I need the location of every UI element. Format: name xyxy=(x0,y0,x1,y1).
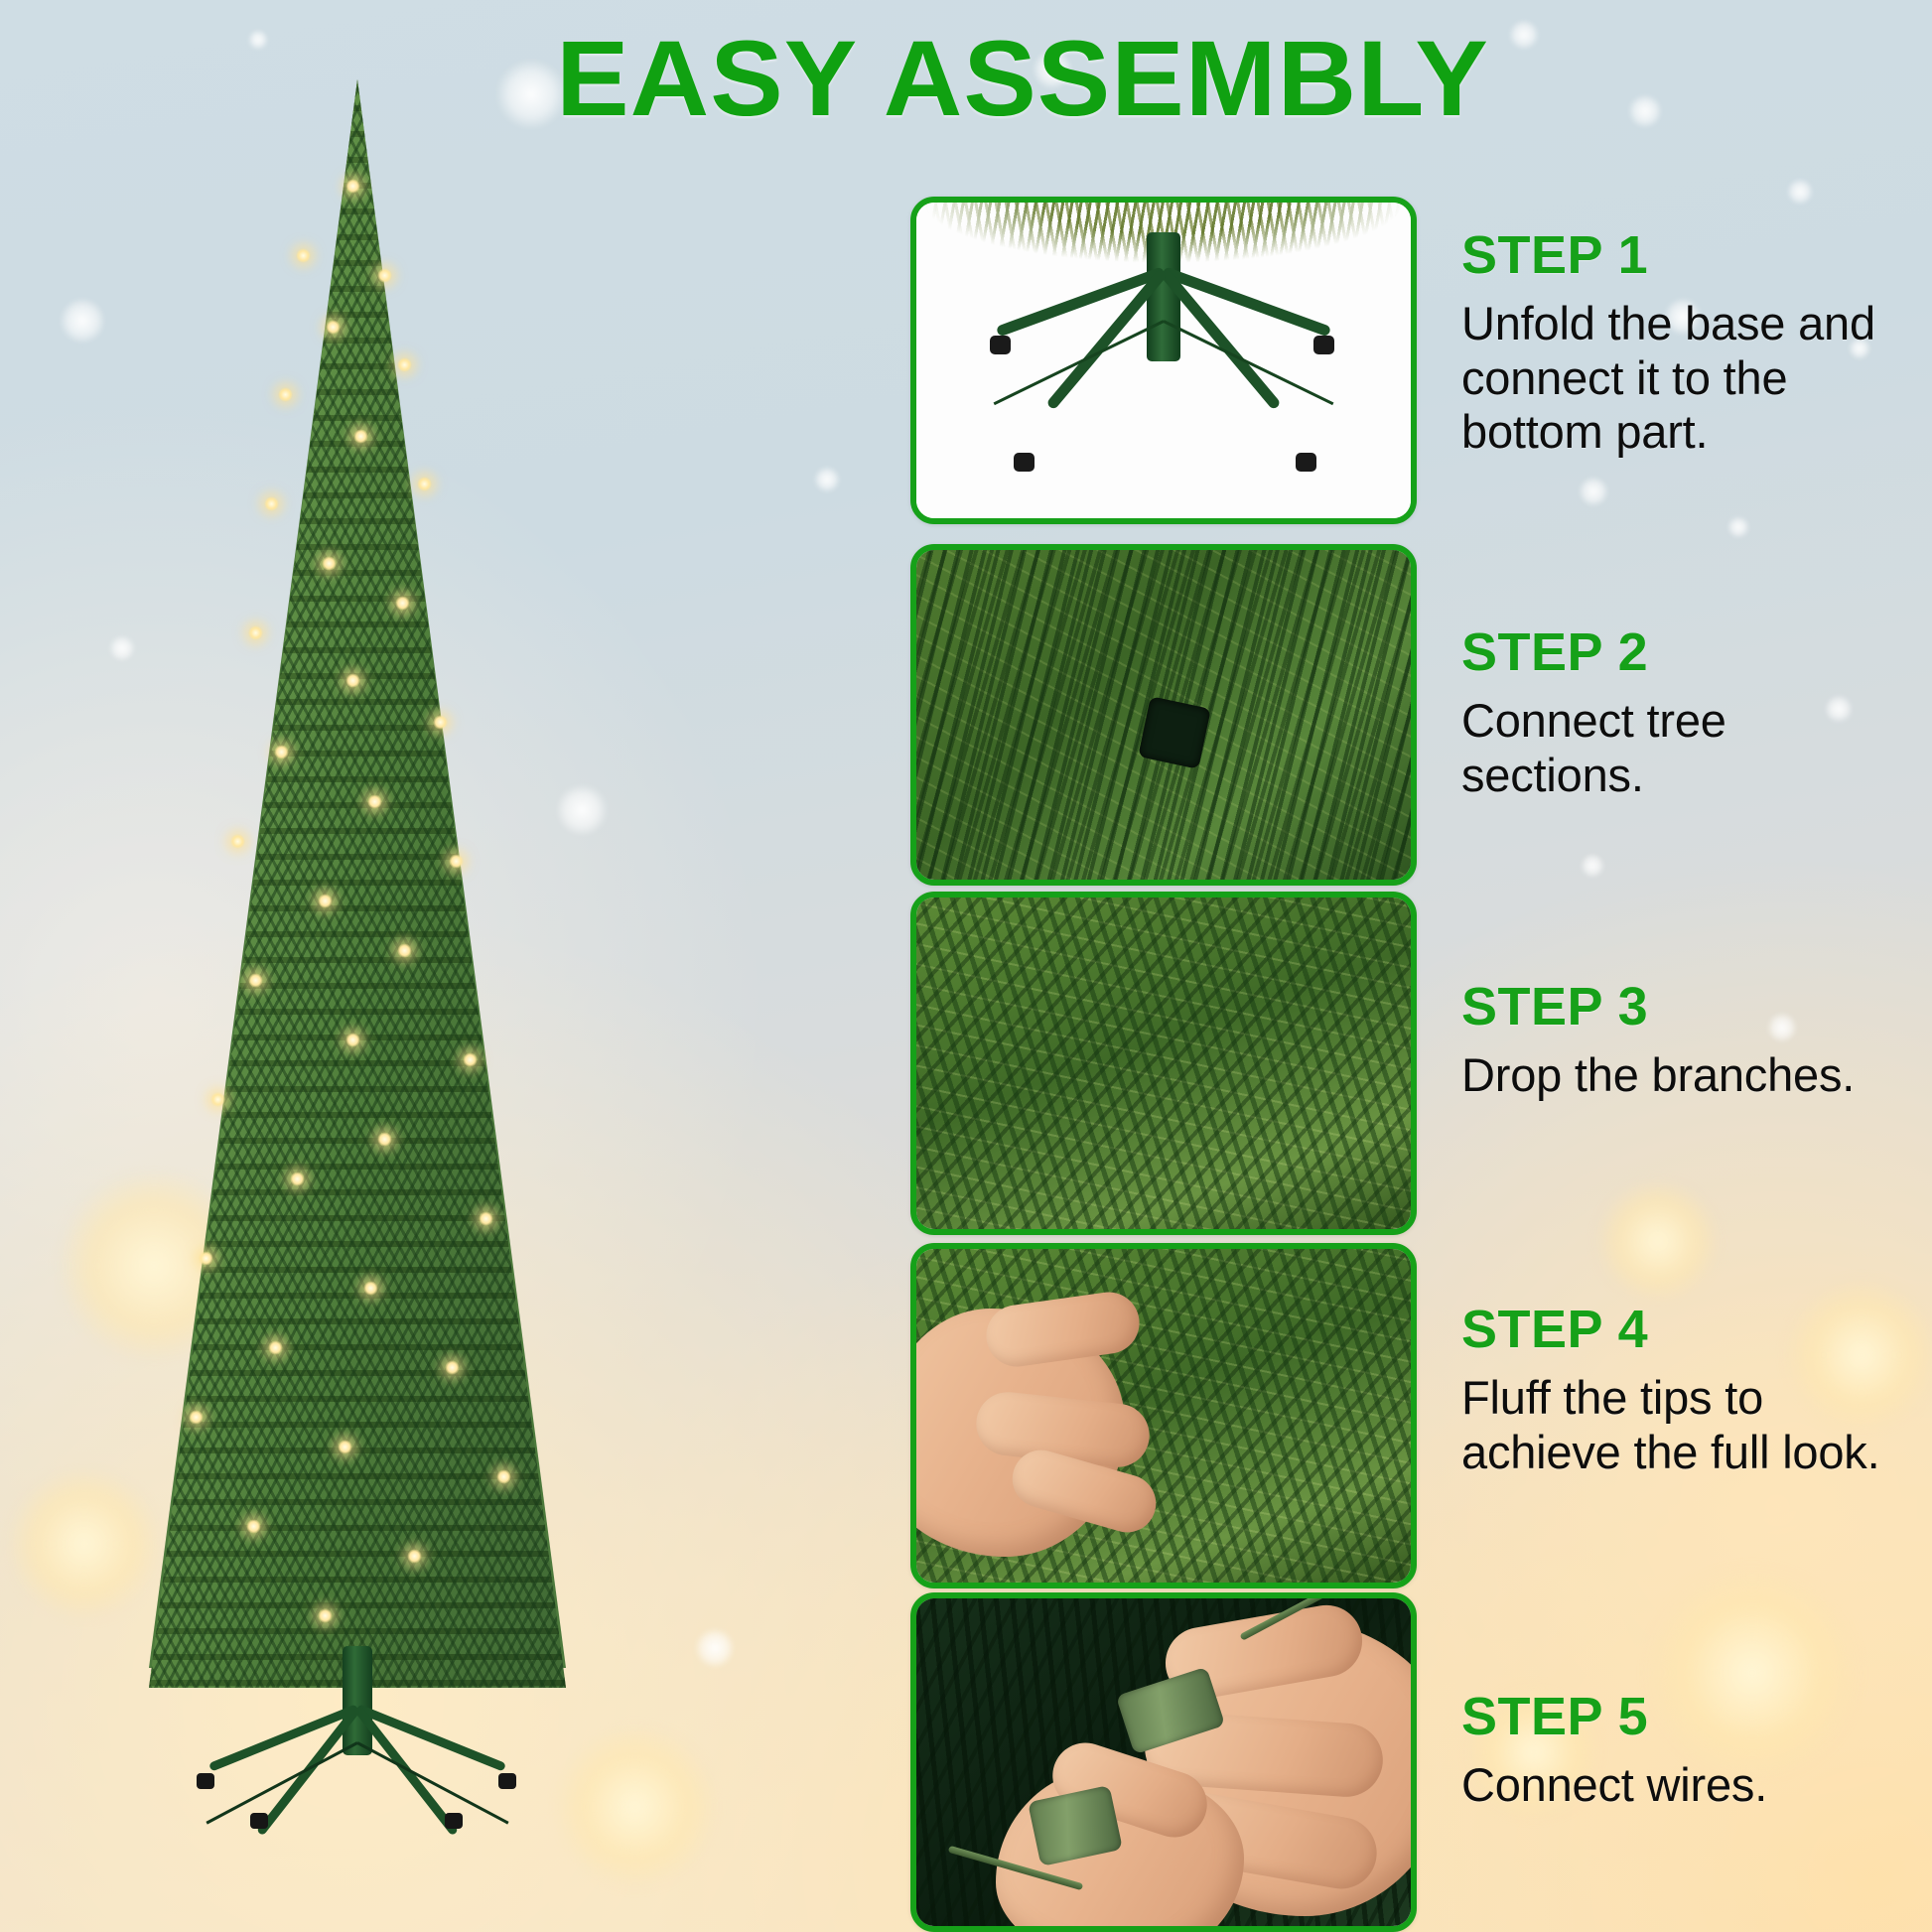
stand-foot xyxy=(1313,336,1334,354)
step-4-description: Fluff the tips to achieve the full look. xyxy=(1461,1371,1904,1479)
step-3-thumbnail[interactable] xyxy=(910,892,1417,1235)
stand-foot xyxy=(990,336,1011,354)
step-3-label: STEP 3 xyxy=(1461,978,1904,1036)
step-4-label: STEP 4 xyxy=(1461,1301,1904,1359)
step-1-description: Unfold the base and connect it to the bo… xyxy=(1461,297,1904,460)
stand-foot xyxy=(1296,453,1316,472)
step-3-description: Drop the branches. xyxy=(1461,1048,1904,1103)
step-1-thumbnail[interactable] xyxy=(910,197,1417,524)
assembly-steps-list: STEP 1 Unfold the base and connect it to… xyxy=(0,0,1932,1932)
page-title: EASY ASSEMBLY xyxy=(456,24,1589,133)
step-5-description: Connect wires. xyxy=(1461,1758,1904,1813)
step-4-text: STEP 4 Fluff the tips to achieve the ful… xyxy=(1461,1301,1904,1479)
step-2-text: STEP 2 Connect tree sections. xyxy=(1461,623,1904,802)
stand-foot xyxy=(1014,453,1035,472)
foliage-texture xyxy=(916,897,1411,1229)
step-1-text: STEP 1 Unfold the base and connect it to… xyxy=(1461,226,1904,460)
step-3-text: STEP 3 Drop the branches. xyxy=(1461,978,1904,1103)
stand-pole xyxy=(1147,232,1180,361)
tree-section-socket xyxy=(1138,696,1211,769)
step-1-label: STEP 1 xyxy=(1461,226,1904,285)
step-5-label: STEP 5 xyxy=(1461,1688,1904,1746)
step-5-text: STEP 5 Connect wires. xyxy=(1461,1688,1904,1813)
step-5-thumbnail[interactable] xyxy=(910,1592,1417,1932)
step-2-thumbnail[interactable] xyxy=(910,544,1417,886)
step-2-label: STEP 2 xyxy=(1461,623,1904,682)
step-4-thumbnail[interactable] xyxy=(910,1243,1417,1588)
step-2-description: Connect tree sections. xyxy=(1461,694,1904,802)
